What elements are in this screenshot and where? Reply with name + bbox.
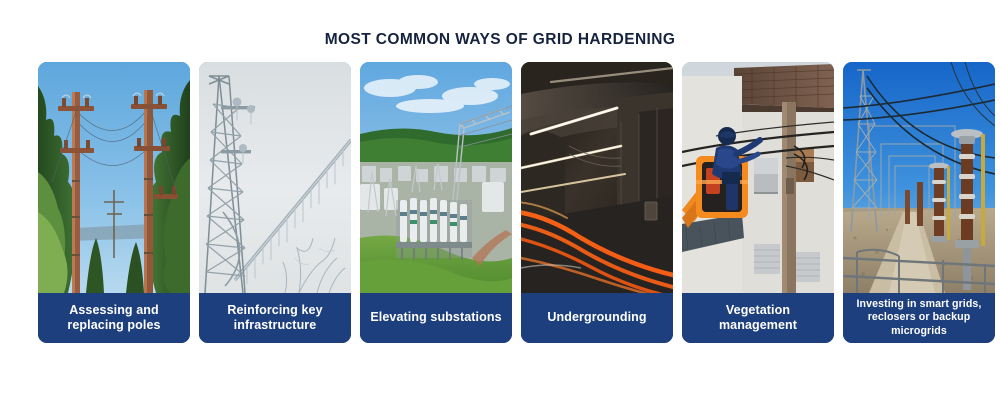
underground-tunnel-light-trails-photo	[521, 62, 673, 293]
substation-switchyard-insulators-photo	[843, 62, 995, 293]
aerial-electrical-substation-photo	[360, 62, 512, 293]
card-label: Vegetation management	[690, 303, 826, 334]
lineworker-in-orange-bucket-lift-photo	[682, 62, 834, 293]
card-label: Investing in smart grids, reclosers or b…	[851, 298, 987, 338]
card-label: Assessing and replacing poles	[46, 303, 182, 334]
card-caption: Undergrounding	[521, 293, 673, 343]
card-caption: Vegetation management	[682, 293, 834, 343]
card-undergrounding[interactable]: Undergrounding	[521, 62, 673, 343]
card-label: Reinforcing key infrastructure	[207, 303, 343, 334]
wooden-utility-poles-in-pine-forest-photo	[38, 62, 190, 293]
card-label: Elevating substations	[370, 310, 501, 325]
card-elevating-substations[interactable]: Elevating substations	[360, 62, 512, 343]
ice-covered-lattice-transmission-tower-photo	[199, 62, 351, 293]
page-title: MOST COMMON WAYS OF GRID HARDENING	[0, 31, 1000, 49]
infographic-root: MOST COMMON WAYS OF GRID HARDENING	[0, 0, 1000, 400]
card-reinforcing-key-infrastructure[interactable]: Reinforcing key infrastructure	[199, 62, 351, 343]
card-row: Assessing and replacing poles	[38, 62, 963, 343]
card-label: Undergrounding	[547, 310, 646, 325]
card-vegetation-management[interactable]: Vegetation management	[682, 62, 834, 343]
card-assessing-and-replacing-poles[interactable]: Assessing and replacing poles	[38, 62, 190, 343]
card-caption: Assessing and replacing poles	[38, 293, 190, 343]
card-caption: Reinforcing key infrastructure	[199, 293, 351, 343]
card-caption: Elevating substations	[360, 293, 512, 343]
card-caption: Investing in smart grids, reclosers or b…	[843, 293, 995, 343]
card-investing-in-smart-grids[interactable]: Investing in smart grids, reclosers or b…	[843, 62, 995, 343]
